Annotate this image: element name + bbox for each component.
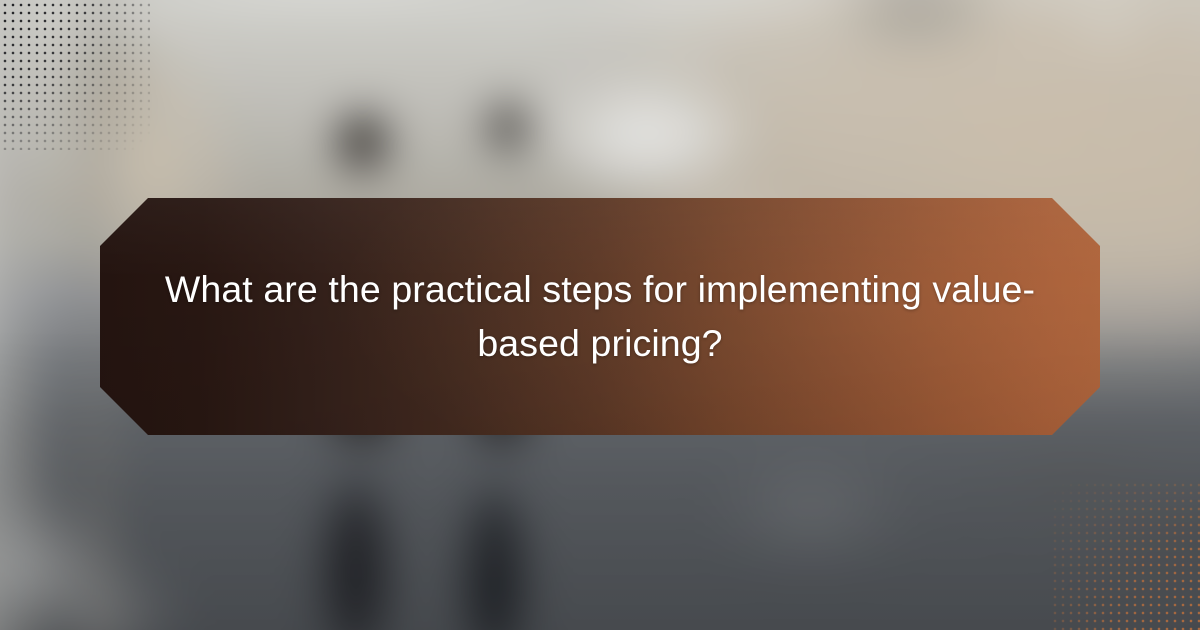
question-title: What are the practical steps for impleme… (100, 263, 1100, 370)
dot-pattern-top-left (0, 0, 150, 150)
dot-pattern-bottom-right (1050, 480, 1200, 630)
social-card: What are the practical steps for impleme… (0, 0, 1200, 630)
question-banner: What are the practical steps for impleme… (100, 198, 1100, 435)
